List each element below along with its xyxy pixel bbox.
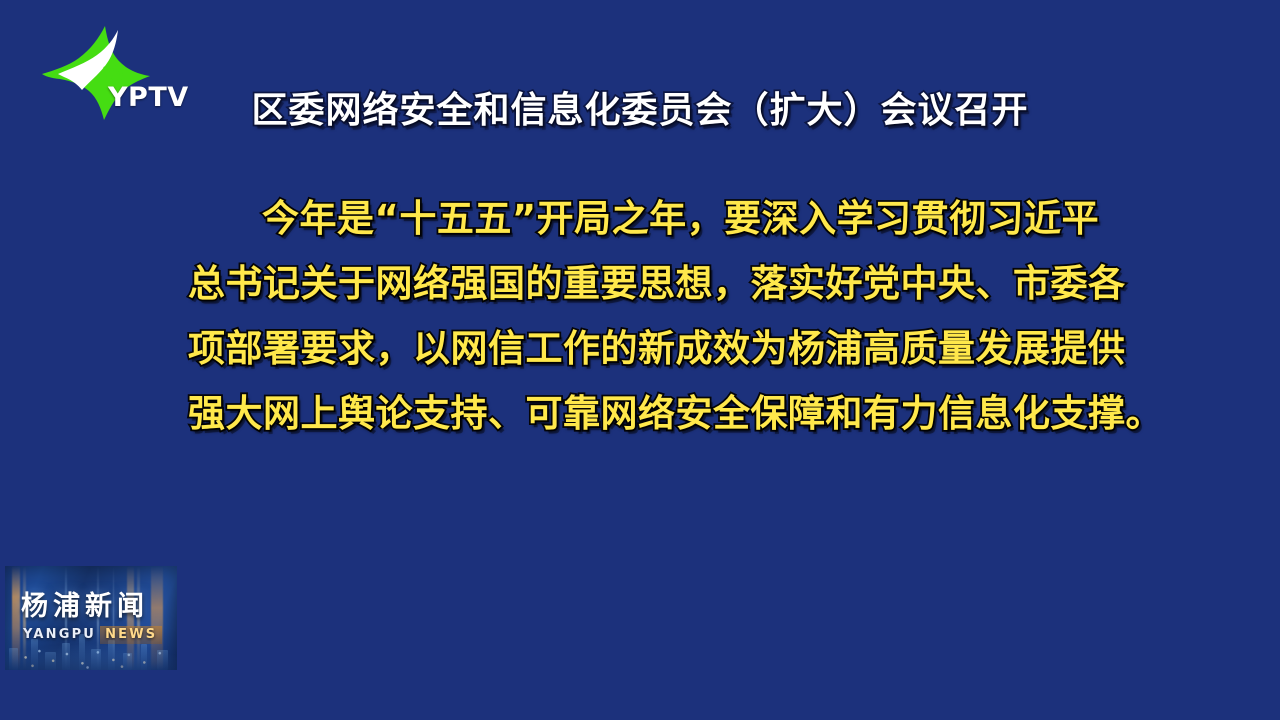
headline: 区委网络安全和信息化委员会（扩大）会议召开: [0, 88, 1280, 133]
program-bug: 杨浦新闻 YANGPUNEWS: [5, 566, 177, 670]
body-line: 总书记关于网络强国的重要思想，落实好党中央、市委各: [188, 251, 1078, 316]
body-line: 项部署要求，以网信工作的新成效为杨浦高质量发展提供: [188, 316, 1078, 381]
body-line: 今年是“十五五”开局之年，要深入学习贯彻习近平: [188, 186, 1078, 251]
body-line: 强大网上舆论支持、可靠网络安全保障和有力信息化支撑。: [188, 381, 1078, 446]
program-title-cn: 杨浦新闻: [21, 593, 149, 620]
program-title-en: YANGPUNEWS: [23, 628, 162, 641]
program-title-en-secondary: NEWS: [100, 626, 162, 644]
program-title-en-primary: YANGPU: [23, 627, 96, 642]
broadcast-screen: YPTV 区委网络安全和信息化委员会（扩大）会议召开 今年是“十五五”开局之年，…: [0, 0, 1280, 720]
body-text: 今年是“十五五”开局之年，要深入学习贯彻习近平 总书记关于网络强国的重要思想，落…: [188, 186, 1078, 446]
